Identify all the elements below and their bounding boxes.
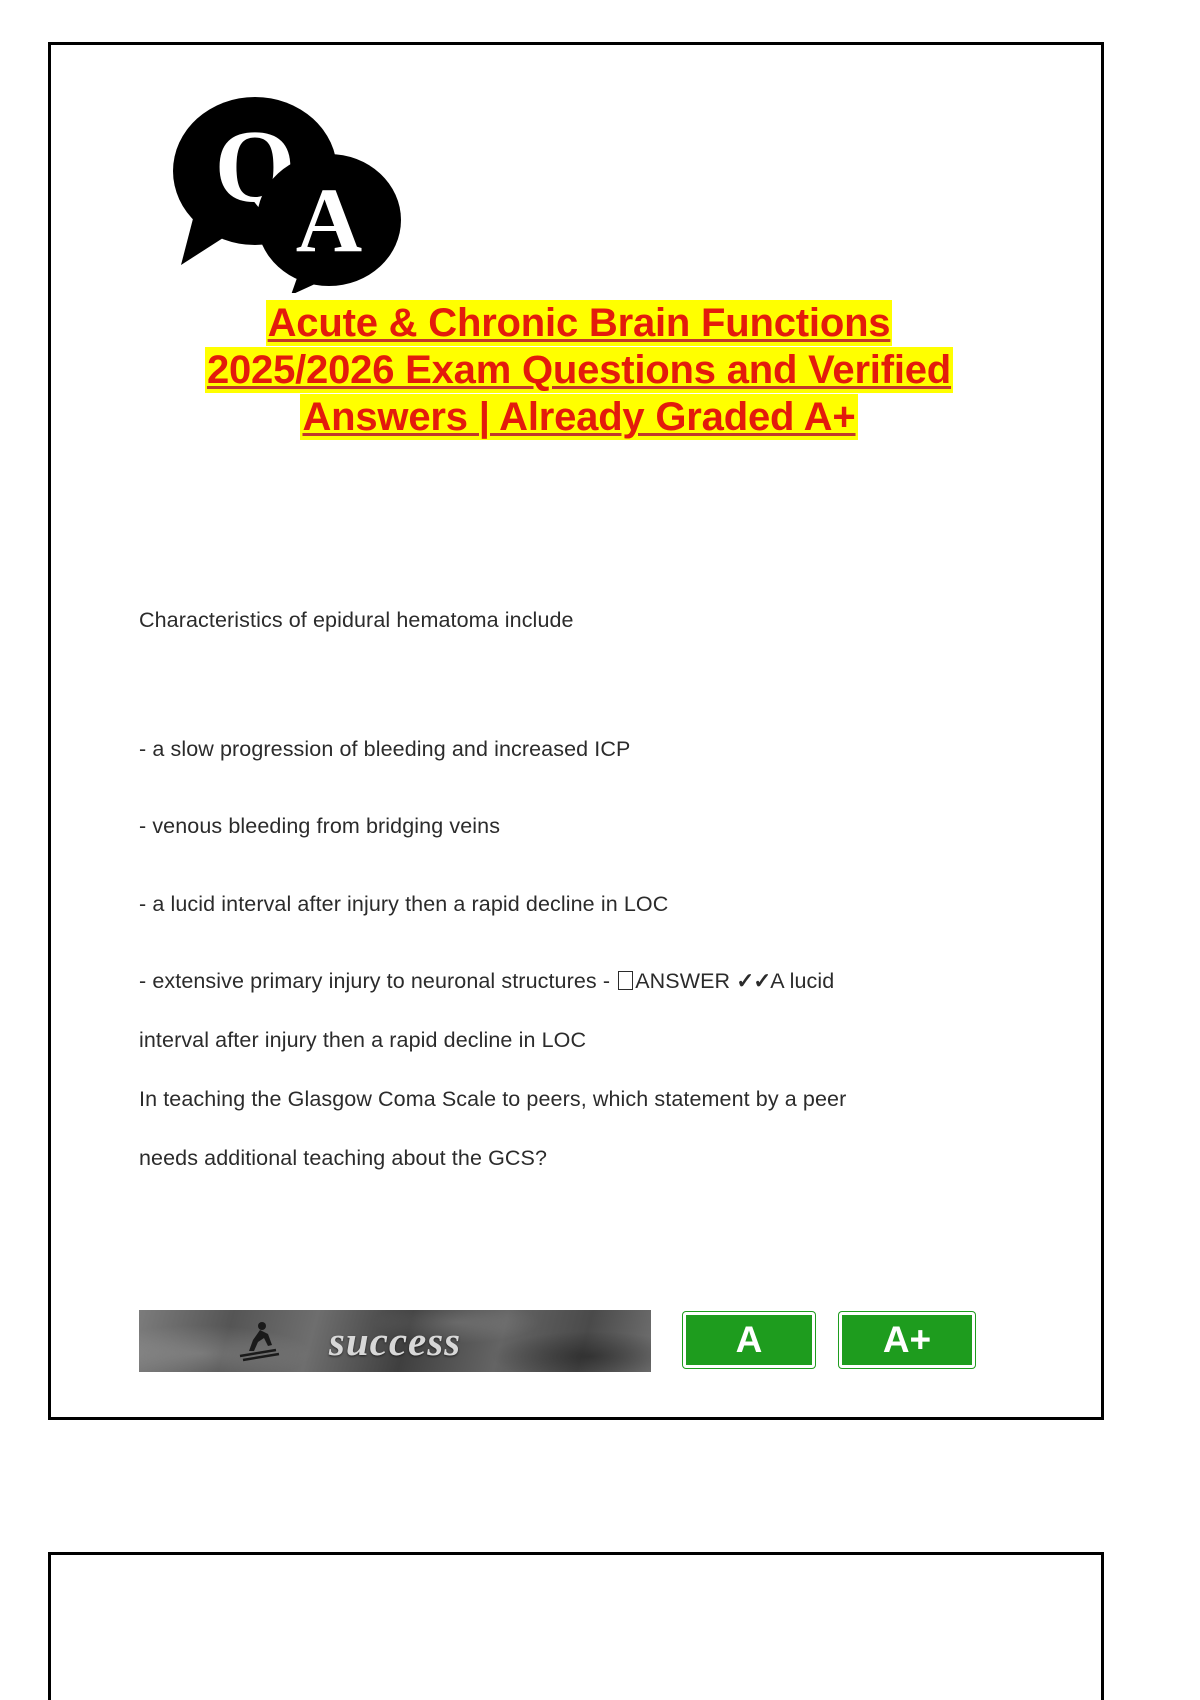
option-item-4-text: - extensive primary injury to neuronal s…: [139, 969, 616, 993]
page-content: Q A Acute & Chronic Brain Functions 2025…: [51, 45, 1101, 1417]
answer-label: ANSWER: [635, 969, 730, 993]
answer-text-part-1: A lucid: [770, 969, 834, 993]
success-banner-image: success: [139, 1310, 651, 1372]
logo-letter-a: A: [296, 169, 362, 271]
question-1: Characteristics of epidural hematoma inc…: [139, 605, 1019, 636]
option-item-2: - venous bleeding from bridging veins: [139, 811, 1019, 842]
spacer: [139, 843, 1019, 889]
spacer: [139, 765, 1019, 811]
success-banner-text: success: [139, 1310, 651, 1372]
question-2-line-2: needs additional teaching about the GCS?: [139, 1143, 1019, 1174]
grade-badge-a: A: [683, 1312, 815, 1368]
option-item-1: - a slow progression of bleeding and inc…: [139, 734, 1019, 765]
answer-line: - extensive primary injury to neuronal s…: [139, 966, 1019, 997]
option-item-3: - a lucid interval after injury then a r…: [139, 889, 1019, 920]
title-line-2: 2025/2026 Exam Questions and Verified: [111, 347, 1047, 394]
page-title: Acute & Chronic Brain Functions 2025/202…: [111, 300, 1047, 442]
footer-banner-row: success A A+: [139, 1310, 1019, 1372]
checkmark-icon: ✓✓: [736, 969, 770, 993]
spacer: [139, 997, 1019, 1025]
spacer: [139, 1115, 1019, 1143]
qa-logo: Q A: [163, 83, 403, 293]
title-line-3: Answers | Already Graded A+: [111, 394, 1047, 441]
spacer: [139, 1056, 1019, 1084]
document-body: Characteristics of epidural hematoma inc…: [139, 605, 1019, 1174]
speech-bubble-a-icon: A: [257, 154, 401, 293]
title-line-1: Acute & Chronic Brain Functions: [111, 300, 1047, 347]
spacer: [139, 636, 1019, 734]
document-page: Q A Acute & Chronic Brain Functions 2025…: [48, 42, 1104, 1420]
missing-glyph-icon: [618, 971, 633, 990]
question-2-line-1: In teaching the Glasgow Coma Scale to pe…: [139, 1084, 1019, 1115]
next-document-page: [48, 1552, 1104, 1700]
spacer: [139, 920, 1019, 966]
grade-badge-a-plus: A+: [839, 1312, 975, 1368]
answer-text-part-2: interval after injury then a rapid decli…: [139, 1025, 1019, 1056]
